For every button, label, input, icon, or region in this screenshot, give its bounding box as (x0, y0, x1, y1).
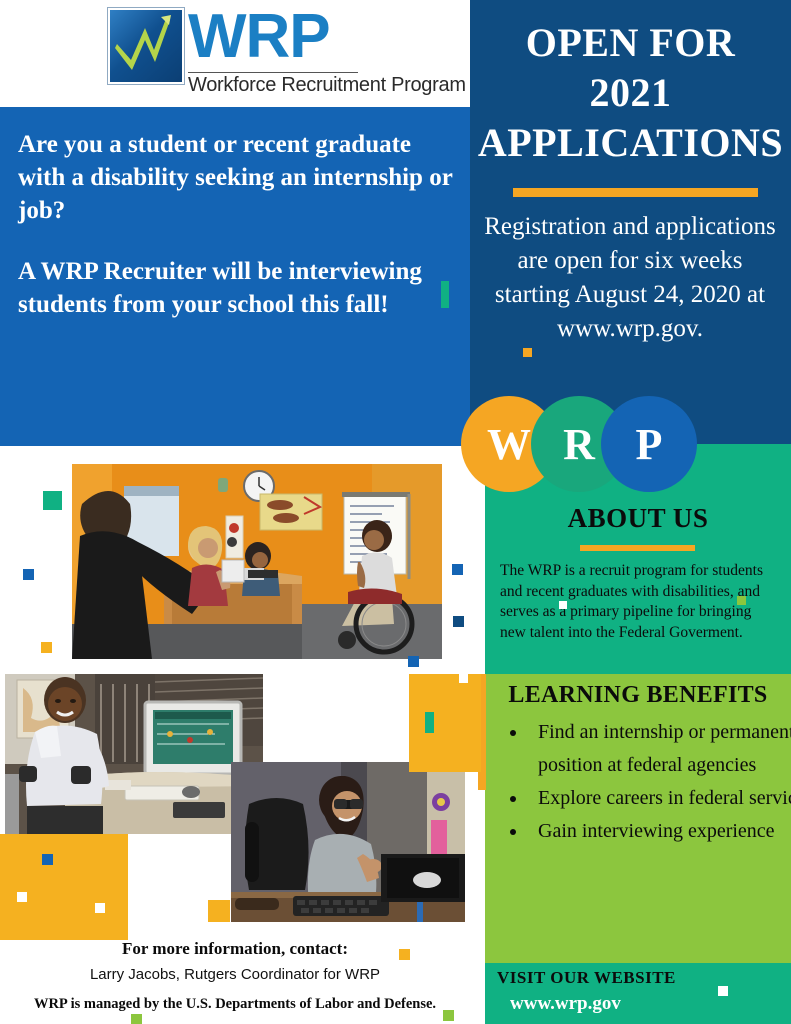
learning-benefits-title: LEARNING BENEFITS (485, 682, 791, 709)
logo-wordmark: WRP (188, 6, 330, 68)
decorative-square-blue (408, 656, 419, 667)
meeting-room-photo (72, 464, 442, 659)
logo-subtitle: Workforce Recruitment Program (188, 74, 466, 97)
decorative-square-blue (452, 564, 463, 575)
website-panel-left-gap (470, 963, 485, 1024)
decorative-square-white (559, 601, 567, 609)
office-worker-photo (5, 674, 263, 834)
decorative-square-white (459, 674, 468, 683)
about-us-divider (580, 545, 695, 551)
decorative-square-white (17, 892, 27, 902)
open-for-applications-title: OPEN FOR 2021 APPLICATIONS (470, 18, 791, 168)
about-us-title: ABOUT US (485, 503, 791, 534)
headline-block: Are you a student or recent graduate wit… (18, 128, 458, 321)
registration-text: Registration and applications are open f… (480, 210, 780, 346)
logo-divider (188, 72, 358, 73)
decorative-square-teal (43, 491, 62, 510)
contact-name: Larry Jacobs, Rutgers Coordinator for WR… (0, 966, 470, 983)
decorative-block-yellow (0, 834, 128, 940)
decorative-bar-green (441, 281, 449, 308)
list-item: Find an internship or permanent position… (528, 716, 791, 782)
decorative-block-yellow (409, 674, 481, 772)
website-url-link[interactable]: www.wrp.gov (510, 993, 621, 1015)
computer-user-photo (231, 762, 465, 922)
decorative-square-yellow (41, 642, 52, 653)
decorative-strip-green (783, 930, 791, 965)
contact-heading: For more information, contact: (0, 939, 470, 959)
decorative-square-yellow (208, 900, 230, 922)
headline-paragraph-1: Are you a student or recent graduate wit… (18, 128, 458, 227)
wrp-chart-arrow-mark-icon (108, 8, 184, 84)
open-title-line-3: APPLICATIONS (470, 118, 791, 168)
decorative-strip-teal (783, 963, 791, 1024)
wrp-logo: WRP Workforce Recruitment Program (108, 6, 358, 102)
list-item: Gain interviewing experience (528, 815, 791, 848)
decorative-bar-teal (425, 712, 434, 733)
wrp-flyer: WRP Workforce Recruitment Program OPEN F… (0, 0, 791, 1024)
visit-website-title: VISIT OUR WEBSITE (497, 968, 676, 988)
open-title-line-1: OPEN FOR (470, 18, 791, 68)
decorative-square-darkblue (453, 616, 464, 627)
decorative-square-yellow (523, 348, 532, 357)
open-title-line-2: 2021 (470, 68, 791, 118)
decorative-square-white (95, 903, 105, 913)
decorative-square-blue (42, 854, 53, 865)
decorative-square-white (718, 986, 728, 996)
list-item: Explore careers in federal service (528, 782, 791, 815)
learning-benefits-list: Find an internship or permanent position… (500, 716, 791, 848)
decorative-square-green (737, 596, 746, 605)
decorative-square-green (131, 1014, 142, 1024)
decorative-square-blue (23, 569, 34, 580)
managed-by-note: WRP is managed by the U.S. Departments o… (0, 996, 470, 1013)
headline-paragraph-2: A WRP Recruiter will be interviewing stu… (18, 255, 458, 321)
circle-p: P (601, 396, 697, 492)
orange-divider-rule (513, 188, 758, 197)
